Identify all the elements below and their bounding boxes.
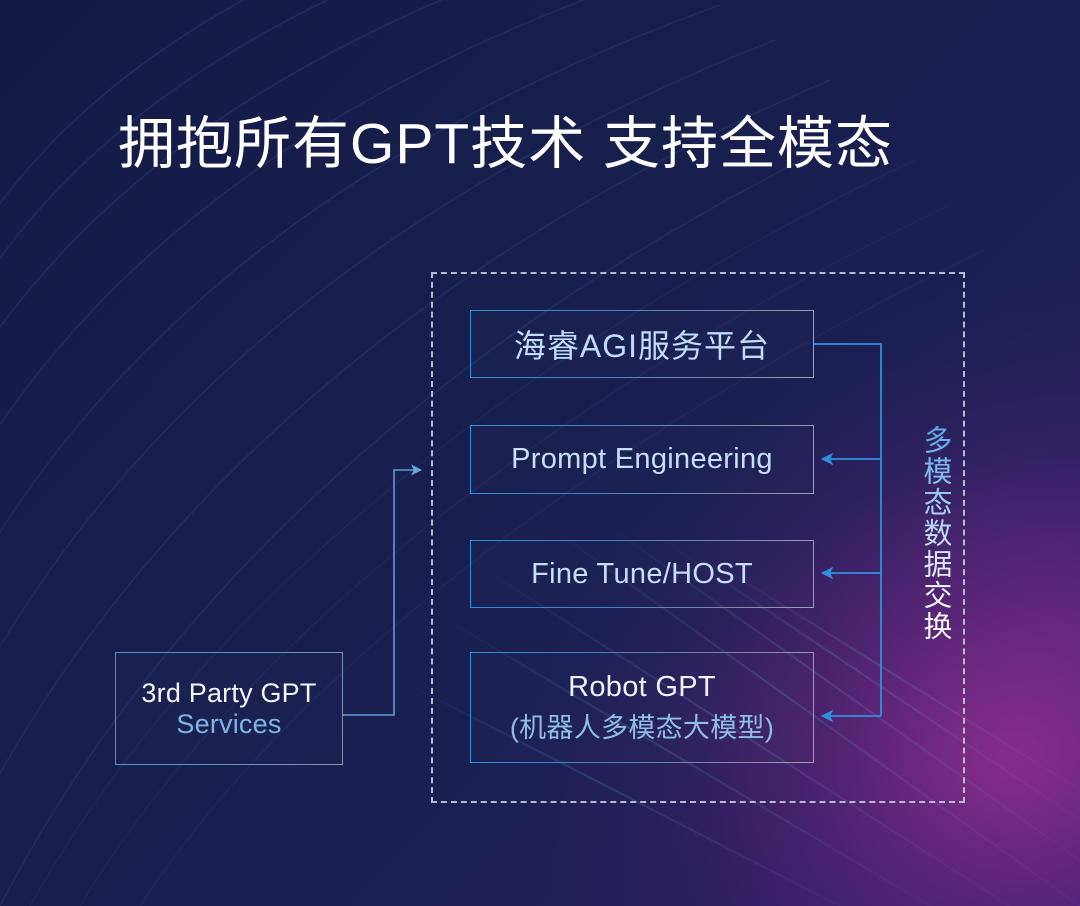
node-third-party-gpt-services[interactable]: 3rd Party GPT Services [115, 652, 343, 765]
node-label-primary: 3rd Party GPT [141, 678, 316, 709]
node-label-primary: Robot GPT [568, 671, 716, 704]
multimodal-data-exchange-label: 多模态数据交换 [905, 425, 951, 642]
slide-canvas: 拥抱所有GPT技术 支持全模态 海睿AGI服务平台 Prompt Engi [0, 0, 1080, 906]
node-label-primary: 海睿AGI服务平台 [514, 321, 770, 367]
node-agi-platform[interactable]: 海睿AGI服务平台 [470, 310, 814, 378]
node-label-primary: Prompt Engineering [511, 443, 773, 476]
node-label-secondary: Services [176, 709, 281, 740]
page-title: 拥抱所有GPT技术 支持全模态 [118, 112, 893, 178]
node-label-primary: Fine Tune/HOST [531, 558, 753, 591]
node-prompt-engineering[interactable]: Prompt Engineering [470, 425, 814, 494]
node-fine-tune-host[interactable]: Fine Tune/HOST [470, 540, 814, 608]
node-robot-gpt[interactable]: Robot GPT (机器人多模态大模型) [470, 652, 814, 763]
node-label-secondary: (机器人多模态大模型) [510, 706, 774, 745]
